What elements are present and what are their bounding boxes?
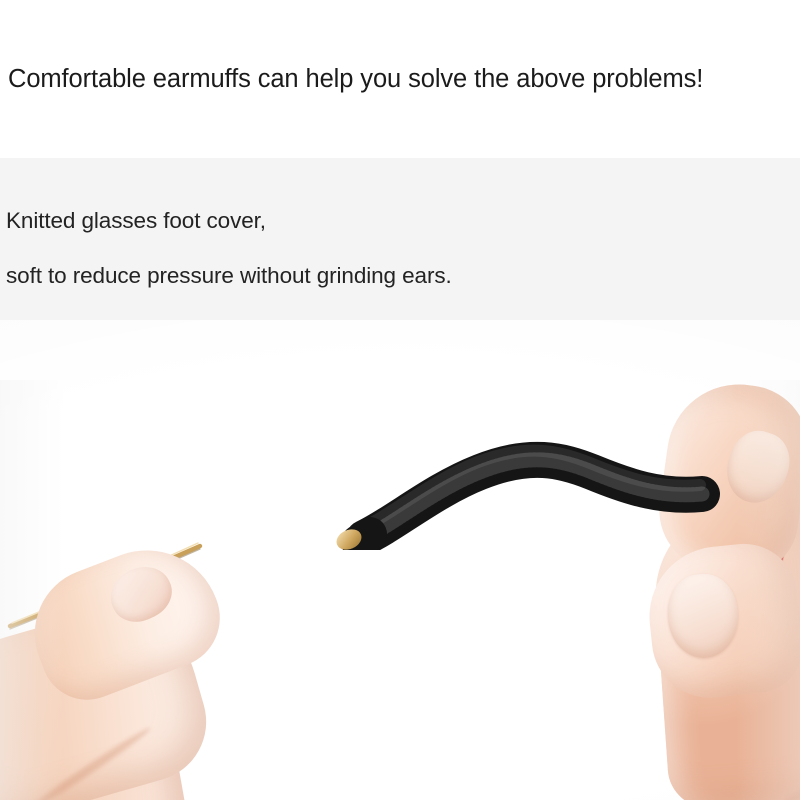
feature-stage: Knitted glasses foot cover, soft to redu… [0, 158, 800, 800]
feature-description: Knitted glasses foot cover, soft to redu… [6, 206, 706, 291]
left-hand [0, 546, 290, 800]
feature-description-line-1: Knitted glasses foot cover, [6, 206, 706, 236]
knuckle-crease [782, 772, 800, 800]
product-photo [0, 380, 800, 800]
page-headline: Comfortable earmuffs can help you solve … [8, 62, 798, 96]
headline-band: Comfortable earmuffs can help you solve … [0, 0, 800, 158]
feature-description-line-2: soft to reduce pressure without grinding… [6, 261, 706, 291]
product-detail-page: Comfortable earmuffs can help you solve … [0, 0, 800, 800]
knitted-temple-cover [330, 420, 750, 550]
